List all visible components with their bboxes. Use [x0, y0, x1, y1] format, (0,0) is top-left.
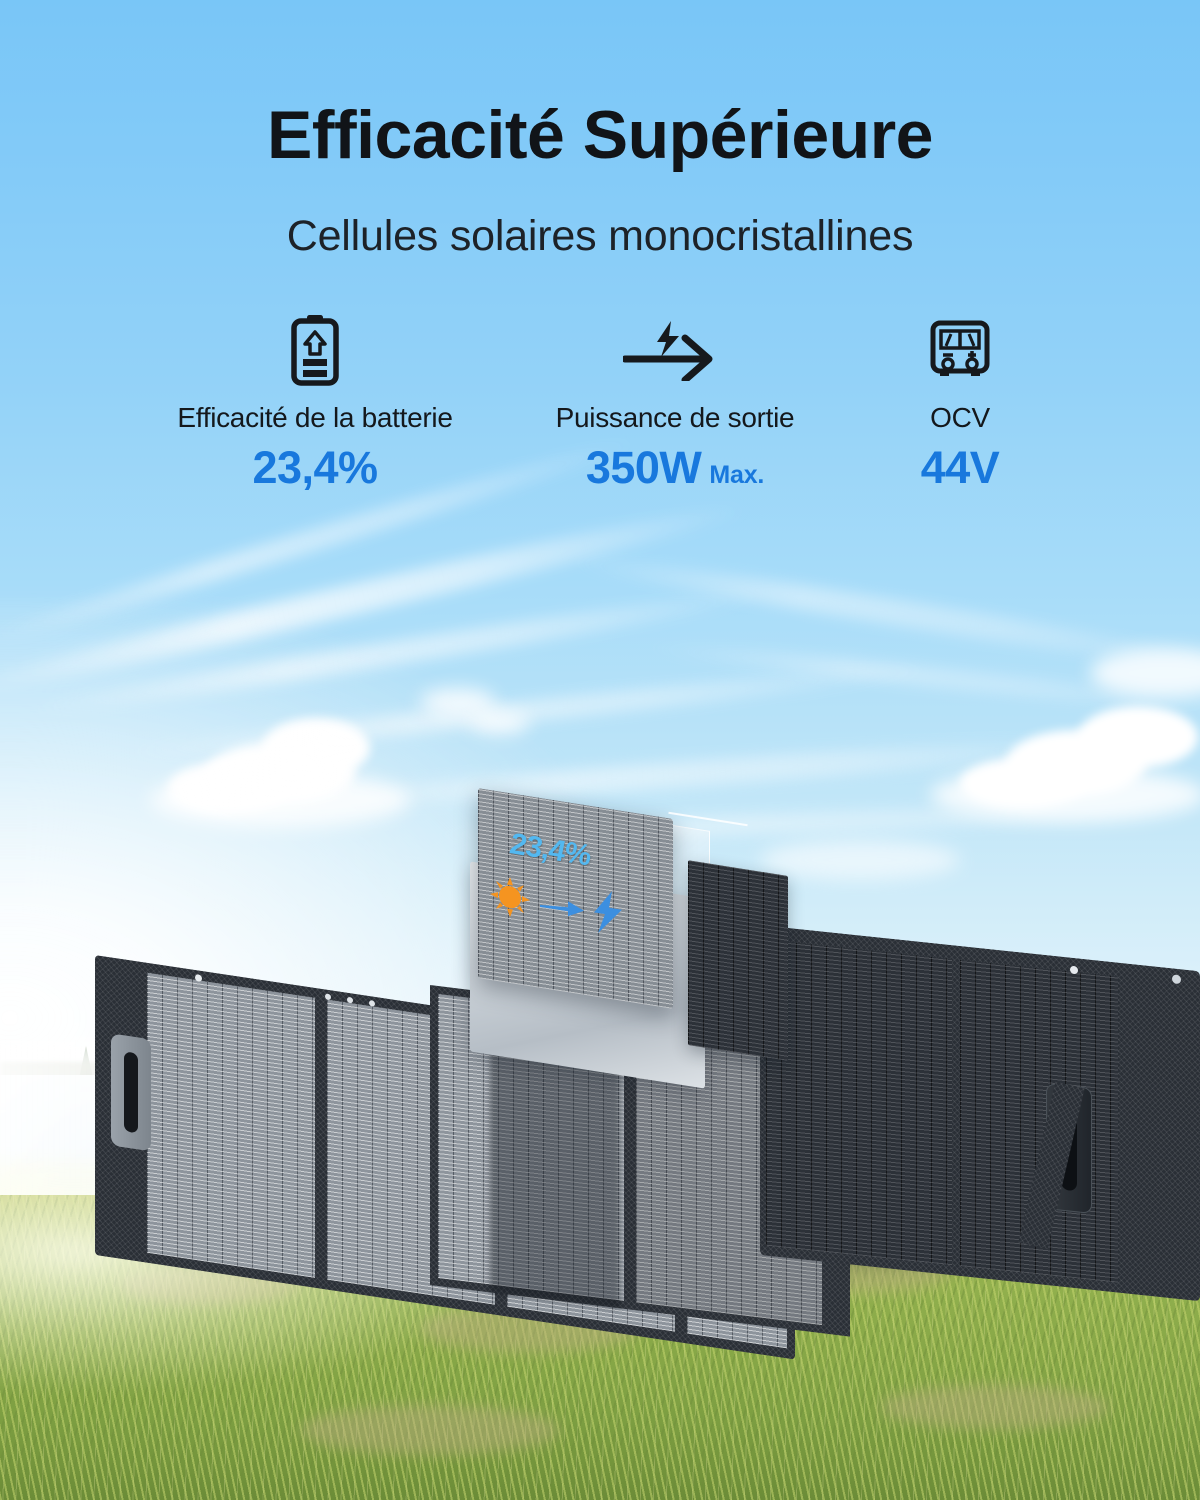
- page-title: Efficacité Supérieure: [0, 100, 1200, 171]
- panel-eyelet: [325, 993, 331, 1000]
- cloud: [760, 840, 960, 880]
- panel-eyelet: [369, 1000, 375, 1007]
- feature-value: 44V: [921, 442, 1000, 494]
- panel-eyelet: [1070, 966, 1078, 975]
- feature-ocv: OCV 44V: [840, 312, 1080, 494]
- panel-eyelet: [195, 974, 202, 982]
- feature-battery-efficiency: Efficacité de la batterie 23,4%: [120, 312, 510, 494]
- feature-value: 23,4%: [252, 442, 377, 494]
- feature-row: Efficacité de la batterie 23,4% Puissanc…: [120, 312, 1080, 494]
- feature-value: 350W: [586, 442, 702, 494]
- feature-power-output: Puissance de sortie 350W Max.: [510, 312, 840, 494]
- feature-label: Efficacité de la batterie: [177, 402, 452, 434]
- handle-slot: [124, 1051, 138, 1133]
- solar-panel-array-right: [760, 925, 1200, 1301]
- panel-section: [147, 973, 315, 1278]
- battery-efficiency-icon: [288, 312, 342, 388]
- power-output-arrow-icon: [623, 312, 727, 388]
- panel-handle[interactable]: [111, 1033, 151, 1151]
- page-subtitle: Cellules solaires monocristallines: [0, 212, 1200, 261]
- feature-value-row: 350W Max.: [586, 442, 764, 494]
- cloud: [1078, 706, 1198, 768]
- feature-label: OCV: [930, 402, 990, 434]
- sun-icon: [490, 874, 530, 920]
- feature-value-suffix: Max.: [709, 461, 764, 490]
- panel-section: [766, 940, 952, 1266]
- panel-eyelet: [347, 997, 353, 1004]
- panel-eyelet: [1172, 974, 1181, 984]
- feature-value-row: 44V: [921, 442, 1000, 494]
- lightning-bolt-icon: [588, 887, 628, 937]
- product-feature-image: 23,4% Efficacité Supérieure Cellules sol…: [0, 0, 1200, 1500]
- cloud: [930, 768, 1200, 822]
- feature-label: Puissance de sortie: [556, 402, 795, 434]
- exploded-dark-layer: [688, 860, 788, 1061]
- feature-value-row: 23,4%: [252, 442, 377, 494]
- dirt-patch: [300, 1405, 560, 1455]
- dirt-patch: [880, 1385, 1110, 1429]
- exploded-cell-layer: 23,4%: [478, 788, 673, 1009]
- voltmeter-icon: [928, 312, 992, 388]
